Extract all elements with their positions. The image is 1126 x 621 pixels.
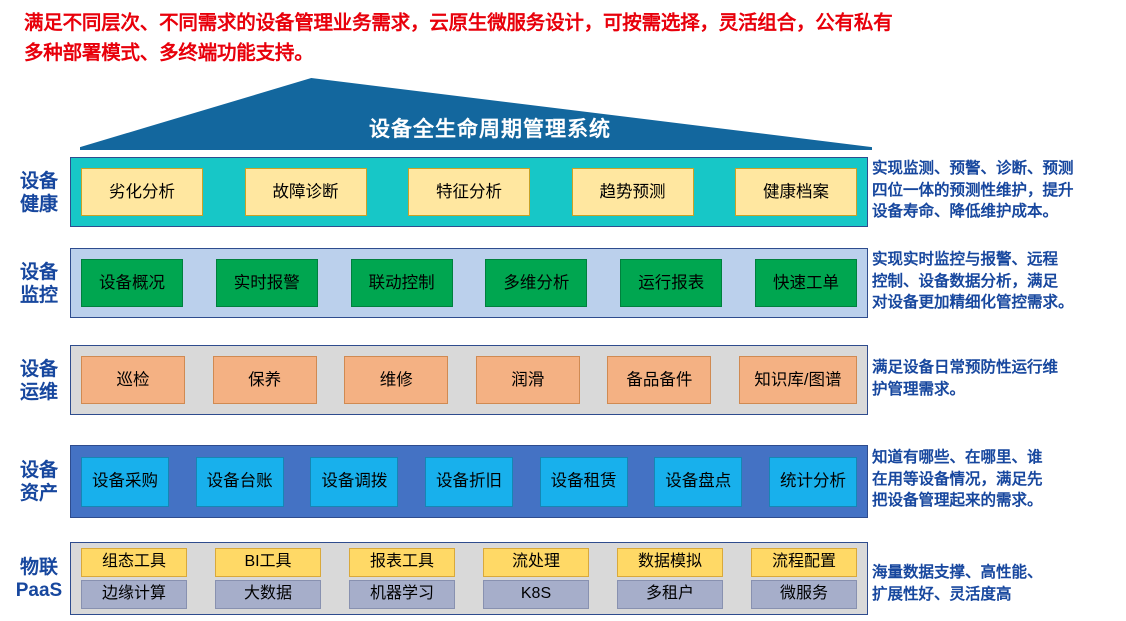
module-card[interactable]: 微服务 bbox=[751, 580, 857, 609]
module-card[interactable]: 故障诊断 bbox=[245, 168, 367, 216]
layer-band-equipment-health: 劣化分析 故障诊断 特征分析 趋势预测 健康档案 bbox=[70, 157, 868, 227]
layer-label-iot-paas: 物联 PaaS bbox=[8, 556, 70, 602]
module-card[interactable]: 设备盘点 bbox=[654, 457, 742, 507]
module-card[interactable]: 设备折旧 bbox=[425, 457, 513, 507]
module-card[interactable]: 机器学习 bbox=[349, 580, 455, 609]
module-card[interactable]: 特征分析 bbox=[408, 168, 530, 216]
module-card[interactable]: 设备调拨 bbox=[310, 457, 398, 507]
module-card[interactable]: 实时报警 bbox=[216, 259, 318, 307]
module-card[interactable]: BI工具 bbox=[215, 548, 321, 577]
page-headline: 满足不同层次、不同需求的设备管理业务需求，云原生微服务设计，可按需选择，灵活组合… bbox=[24, 8, 1116, 68]
module-card[interactable]: 润滑 bbox=[476, 356, 580, 404]
module-card[interactable]: 流处理 bbox=[483, 548, 589, 577]
layer-band-equipment-monitoring: 设备概况 实时报警 联动控制 多维分析 运行报表 快速工单 bbox=[70, 248, 868, 318]
module-card[interactable]: K8S bbox=[483, 580, 589, 609]
slide-canvas: 满足不同层次、不同需求的设备管理业务需求，云原生微服务设计，可按需选择，灵活组合… bbox=[0, 0, 1126, 621]
module-card[interactable]: 流程配置 bbox=[751, 548, 857, 577]
layer-label-equipment-om: 设备 运维 bbox=[8, 358, 70, 404]
layer-label-equipment-assets: 设备 资产 bbox=[8, 459, 70, 505]
module-card[interactable]: 趋势预测 bbox=[572, 168, 694, 216]
system-banner: 设备全生命周期管理系统 bbox=[80, 78, 872, 150]
module-card[interactable]: 设备概况 bbox=[81, 259, 183, 307]
layer-description-equipment-monitoring: 实现实时监控与报警、远程 控制、设备数据分析，满足 对设备更加精细化管控需求。 bbox=[872, 249, 1124, 314]
layer-description-equipment-health: 实现监测、预警、诊断、预测 四位一体的预测性维护，提升 设备寿命、降低维护成本。 bbox=[872, 158, 1124, 223]
layer-description-equipment-assets: 知道有哪些、在哪里、谁 在用等设备情况，满足先 把设备管理起来的需求。 bbox=[872, 447, 1124, 512]
module-card[interactable]: 健康档案 bbox=[735, 168, 857, 216]
module-card[interactable]: 组态工具 bbox=[81, 548, 187, 577]
module-card[interactable]: 快速工单 bbox=[755, 259, 857, 307]
paas-infra-line: 边缘计算 大数据 机器学习 K8S 多租户 微服务 bbox=[81, 580, 857, 609]
layer-band-iot-paas: 组态工具 BI工具 报表工具 流处理 数据模拟 流程配置 边缘计算 大数据 机器… bbox=[70, 542, 868, 615]
module-card[interactable]: 设备台账 bbox=[196, 457, 284, 507]
module-card[interactable]: 设备采购 bbox=[81, 457, 169, 507]
module-card[interactable]: 运行报表 bbox=[620, 259, 722, 307]
banner-title: 设备全生命周期管理系统 bbox=[80, 78, 872, 150]
module-card[interactable]: 知识库/图谱 bbox=[739, 356, 857, 404]
layer-band-equipment-assets: 设备采购 设备台账 设备调拨 设备折旧 设备租赁 设备盘点 统计分析 bbox=[70, 445, 868, 518]
module-card[interactable]: 维修 bbox=[344, 356, 448, 404]
module-card[interactable]: 巡检 bbox=[81, 356, 185, 404]
module-card[interactable]: 备品备件 bbox=[607, 356, 711, 404]
paas-tools-line: 组态工具 BI工具 报表工具 流处理 数据模拟 流程配置 bbox=[81, 548, 857, 577]
module-card[interactable]: 劣化分析 bbox=[81, 168, 203, 216]
module-card[interactable]: 大数据 bbox=[215, 580, 321, 609]
module-card[interactable]: 保养 bbox=[213, 356, 317, 404]
module-card[interactable]: 数据模拟 bbox=[617, 548, 723, 577]
layer-band-equipment-om: 巡检 保养 维修 润滑 备品备件 知识库/图谱 bbox=[70, 345, 868, 415]
module-card[interactable]: 联动控制 bbox=[351, 259, 453, 307]
layer-description-equipment-om: 满足设备日常预防性运行维 护管理需求。 bbox=[872, 357, 1124, 400]
module-card[interactable]: 边缘计算 bbox=[81, 580, 187, 609]
module-card[interactable]: 多租户 bbox=[617, 580, 723, 609]
layer-description-iot-paas: 海量数据支撑、高性能、 扩展性好、灵活度高 bbox=[872, 562, 1124, 605]
module-card[interactable]: 统计分析 bbox=[769, 457, 857, 507]
layer-label-equipment-monitoring: 设备 监控 bbox=[8, 261, 70, 307]
module-card[interactable]: 设备租赁 bbox=[540, 457, 628, 507]
module-card[interactable]: 报表工具 bbox=[349, 548, 455, 577]
layer-label-equipment-health: 设备 健康 bbox=[8, 170, 70, 216]
module-card[interactable]: 多维分析 bbox=[485, 259, 587, 307]
